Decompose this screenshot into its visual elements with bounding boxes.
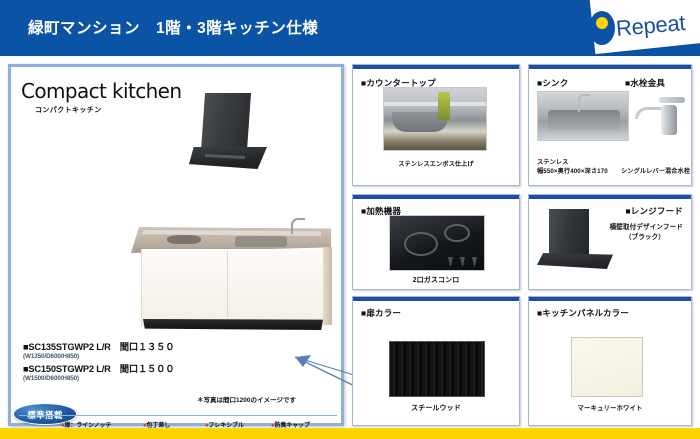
sink-photo [537,91,629,141]
panel-door-color: ■扉カラー スチールウッド [352,296,520,426]
range-hood-body-shape [549,209,589,257]
compact-kitchen-panel: Compact kitchen コンパクトキッチン ＊写真は間口1200のイメー… [8,64,344,426]
stove-knob-icon [472,257,477,266]
countertop-bottle-shape [438,92,450,120]
brand-logo: Repeat [580,0,700,56]
spec-sheet-page: 緑町マンション 1階・3階キッチン仕様 Repeat Compact kitch… [0,0,700,439]
panel-topbar [353,65,519,69]
range-hood-caption-2: （ブラック） [625,231,665,241]
panel-color-swatch [571,337,643,397]
sink-basin-shape [548,110,620,130]
unit-door-seam [227,251,228,317]
unit-sink-icon [235,236,287,247]
range-hood-title: ■レンジフード [625,205,683,217]
countertop-rail-shape [384,102,487,106]
unit-toe-kick [143,319,323,330]
footer-accent-bar [0,428,700,439]
kitchen-unit-illustration [131,227,331,339]
page-header: 緑町マンション 1階・3階キッチン仕様 Repeat [0,0,700,56]
countertop-photo [383,87,487,151]
stove-burner-small-icon [444,224,470,242]
panel-topbar [353,297,519,301]
sink-caption-dimensions: 幅550×奥行400×深さ170 [537,166,608,175]
range-hood-base-shape [537,253,613,269]
stove-knob-icon [448,257,453,266]
door-color-swatch [389,341,485,397]
door-color-title: ■扉カラー [361,307,401,319]
panel-color-title: ■キッチンパネルカラー [537,307,629,319]
heater-caption: 2口ガスコンロ [353,275,519,285]
faucet-illustration [633,91,689,145]
model-1-name: ■SC135STGWP2 L/R 間口１３５０ [23,339,193,353]
hood-body-shape [201,93,251,151]
model-1-dims: (W1350/D600/H850) [23,353,193,360]
panel-topbar [353,195,519,199]
logo-dot-icon [596,17,608,29]
faucet-title: ■水栓金具 [625,77,665,89]
faucet-lever-shape [659,97,685,103]
page-title: 緑町マンション 1階・3階キッチン仕様 [28,16,318,38]
compact-kitchen-title-en: Compact kitchen [21,79,181,103]
gas-stove-photo [389,215,485,271]
sink-caption-material: ステンレス [537,157,568,166]
unit-door-front [141,249,325,327]
faucet-body-shape [661,105,677,135]
sink-faucet-shape [578,94,590,112]
model-2-dims: (W1500/D600/H850) [23,375,193,382]
faucet-caption: シングルレバー混合水栓 [621,166,690,175]
range-hood-photo [537,209,615,275]
panel-topbar [529,195,691,199]
panel-topbar [529,297,691,301]
panel-color-caption: マーキュリーホワイト [529,403,691,412]
panel-sink: ■シンク ■水栓金具 ステンレス 幅550×奥行400×深さ170 シングルレバ… [528,64,692,186]
compact-kitchen-title-ja: コンパクトキッチン [35,105,102,115]
sink-title: ■シンク [537,77,568,89]
photo-disclaimer: ＊写真は間口1200のイメージです [197,394,296,404]
panel-topbar [529,65,691,69]
unit-faucet-icon [291,218,305,234]
panel-heater: ■加熱機器 2口ガスコンロ [352,194,520,290]
range-hood-illustration [189,93,267,179]
range-hood-caption-1: 横壁取付デザインフード [610,221,683,231]
panel-range-hood: ■レンジフード 横壁取付デザインフード （ブラック） [528,194,692,290]
panel-countertop: ■カウンタートップ ステンレスエンボス仕上げ [352,64,520,186]
unit-burner-icon [167,235,201,244]
panel-kitchen-panel-color: ■キッチンパネルカラー マーキュリーホワイト [528,296,692,426]
unit-side-panel [323,247,332,325]
stove-burner-large-icon [404,232,438,256]
door-color-caption: スチールウッド [353,403,519,413]
model-2-name: ■SC150STGWP2 L/R 間口１５００ [23,361,193,375]
countertop-caption: ステンレスエンボス仕上げ [353,159,519,168]
stove-knob-icon [460,257,465,266]
model-spec-list: ■SC135STGWP2 L/R 間口１３５０ (W1350/D600/H850… [23,339,193,383]
